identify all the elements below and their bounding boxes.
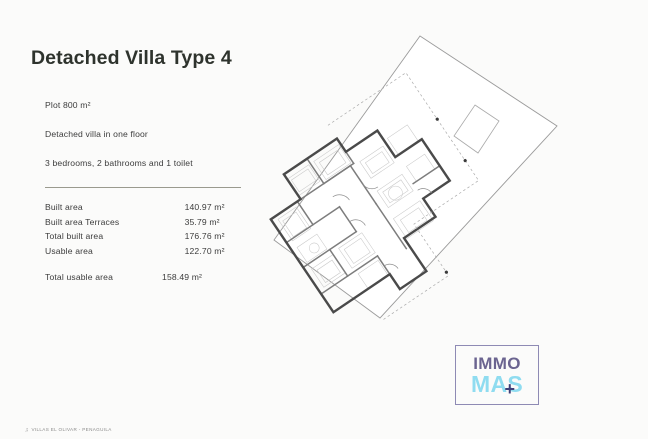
page-title: Detached Villa Type 4 xyxy=(31,47,263,70)
spec-rooms: 3 bedrooms, 2 bathrooms and 1 toilet xyxy=(45,158,263,168)
total-usable-row: Total usable area 158.49 m² xyxy=(45,272,241,282)
area-table: Built area 140.97 m² Built area Terraces… xyxy=(45,202,241,260)
table-row: Built area Terraces 35.79 m² xyxy=(45,217,241,232)
immo-mas-logo[interactable]: IMMO MAS + xyxy=(455,345,539,405)
logo-mas-wrap: MAS + xyxy=(471,373,523,396)
table-row: Total built area 176.76 m² xyxy=(45,231,241,246)
area-label-usable: Usable area xyxy=(45,246,133,261)
total-usable-label: Total usable area xyxy=(45,272,113,282)
footer-project-name: VILLAS EL OLIVAR - PENAGUILA xyxy=(31,427,111,432)
document-page: Detached Villa Type 4 Plot 800 m² Detach… xyxy=(0,0,648,439)
area-value-terraces: 35.79 m² xyxy=(133,217,241,232)
footer: ♫ VILLAS EL OLIVAR - PENAGUILA xyxy=(25,427,112,432)
spec-villa-type: Detached villa in one floor xyxy=(45,129,263,139)
logo-immo-text: IMMO xyxy=(473,355,520,372)
section-divider xyxy=(45,187,241,188)
area-label-total-built: Total built area xyxy=(45,231,133,246)
area-label-terraces: Built area Terraces xyxy=(45,217,133,232)
note-icon: ♫ xyxy=(25,426,28,433)
spec-plot-size: Plot 800 m² xyxy=(45,100,263,110)
area-value-total-built: 176.76 m² xyxy=(133,231,241,246)
table-row: Usable area 122.70 m² xyxy=(45,246,241,261)
info-panel: Detached Villa Type 4 Plot 800 m² Detach… xyxy=(31,47,263,282)
area-value-usable: 122.70 m² xyxy=(133,246,241,261)
table-row: Built area 140.97 m² xyxy=(45,202,241,217)
logo-mas-text: MAS xyxy=(471,371,523,397)
plot-boundary xyxy=(274,36,557,318)
area-label-built: Built area xyxy=(45,202,133,217)
total-usable-value: 158.49 m² xyxy=(162,272,202,282)
area-value-built: 140.97 m² xyxy=(133,202,241,217)
plus-icon: + xyxy=(504,380,515,398)
